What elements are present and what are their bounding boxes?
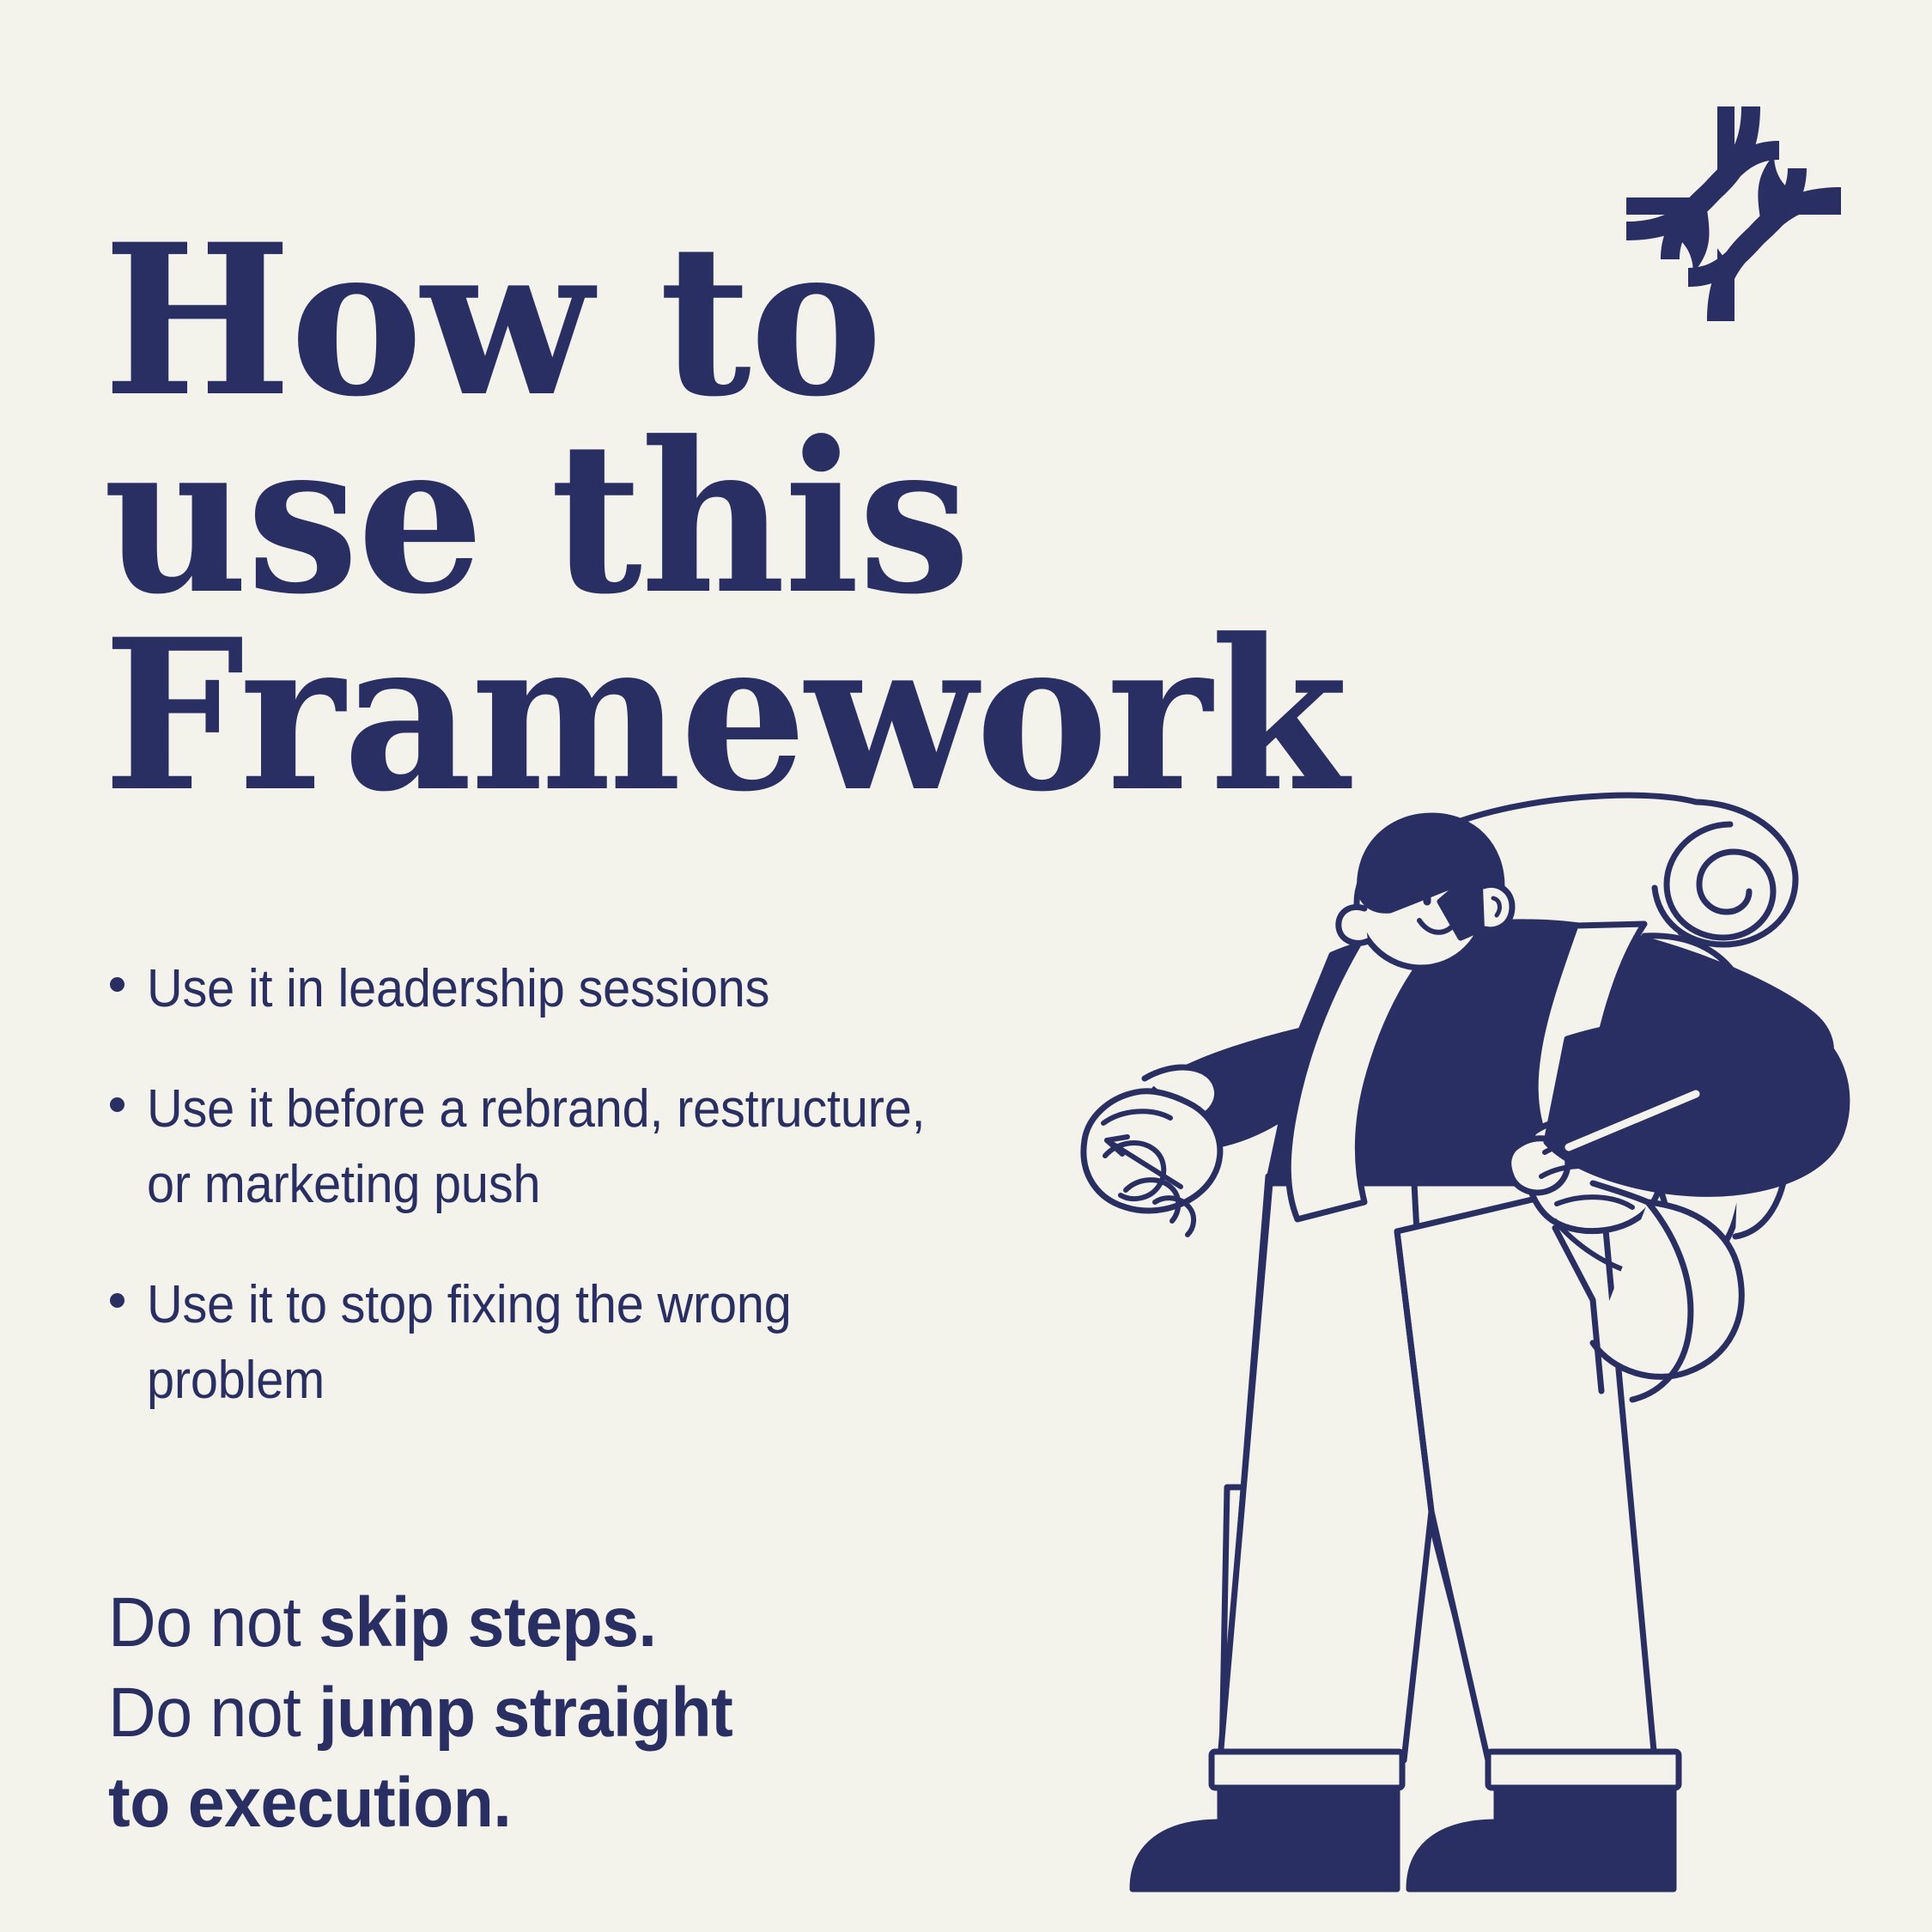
closing-line-2-normal: Do not (108, 1674, 319, 1752)
closing-line-1-emphasis: skip steps. (319, 1583, 656, 1662)
list-item: Use it before a rebrand, restructure, or… (110, 1072, 1003, 1223)
interwoven-cross-logo (1621, 101, 1846, 326)
bullet-item-label: Use it to stop fixing the wrong problem (147, 1267, 943, 1419)
bullet-item-label: Use it before a rebrand, restructure, or… (147, 1072, 943, 1223)
closing-line-1-normal: Do not (108, 1583, 319, 1662)
closing-statement: Do not skip steps. Do not jump straight … (108, 1578, 980, 1849)
page-title: How to use this Framework (103, 223, 1488, 816)
list-item: Use it in leadership sessions (110, 951, 1003, 1027)
list-item: Use it to stop fixing the wrong problem (110, 1267, 1003, 1419)
bullet-dot-icon (110, 1097, 125, 1112)
bullet-item-label: Use it in leadership sessions (147, 951, 943, 1027)
headline-line-2: use this (103, 421, 1488, 618)
closing-line-1: Do not skip steps. (108, 1578, 980, 1668)
closing-line-2: Do not jump straight (108, 1668, 980, 1759)
bullet-dot-icon (110, 977, 125, 992)
bullet-dot-icon (110, 1293, 125, 1308)
headline-line-1: How to (103, 223, 1488, 421)
closing-line-2-emphasis: jump straight (319, 1674, 732, 1752)
closing-line-3: to execution. (108, 1759, 980, 1849)
hiker-with-rolled-mat-illustration (1043, 773, 1911, 1906)
usage-bullet-list: Use it in leadership sessions Use it bef… (110, 951, 1003, 1463)
poster-canvas: How to use this Framework Use it in lead… (0, 0, 1932, 1932)
